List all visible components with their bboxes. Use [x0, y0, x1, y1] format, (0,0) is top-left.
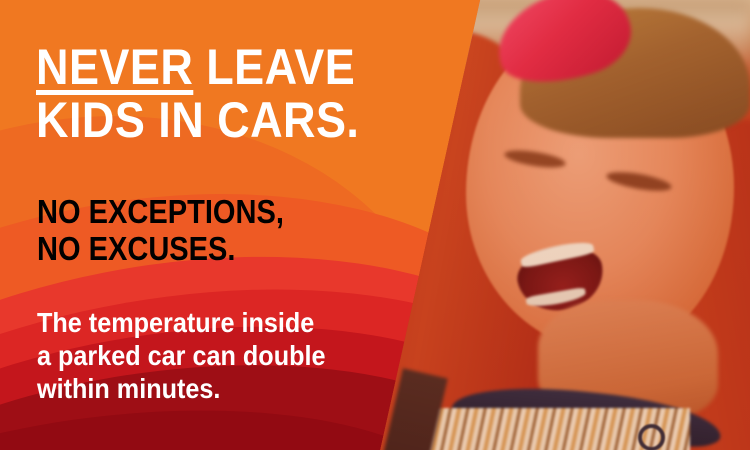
- headline-line-1-rest: LEAVE: [193, 39, 355, 95]
- headline-line-2: KIDS IN CARS.: [36, 94, 369, 147]
- body-line-2: a parked car can double: [37, 339, 379, 372]
- body-line-3: within minutes.: [37, 372, 379, 405]
- psa-poster: NEVER LEAVE KIDS IN CARS. NO EXCEPTIONS,…: [0, 0, 750, 450]
- headline: NEVER LEAVE KIDS IN CARS.: [36, 41, 369, 147]
- subhead-line-1: NO EXCEPTIONS,: [37, 193, 363, 230]
- headline-emphasis-never: NEVER: [36, 39, 193, 95]
- body-line-1: The temperature inside: [37, 306, 379, 339]
- subhead: NO EXCEPTIONS, NO EXCUSES.: [37, 193, 363, 267]
- subhead-line-2: NO EXCUSES.: [37, 230, 363, 267]
- headline-line-1: NEVER LEAVE: [36, 41, 369, 94]
- body-copy: The temperature inside a parked car can …: [37, 306, 379, 405]
- text-content: NEVER LEAVE KIDS IN CARS. NO EXCEPTIONS,…: [0, 0, 420, 450]
